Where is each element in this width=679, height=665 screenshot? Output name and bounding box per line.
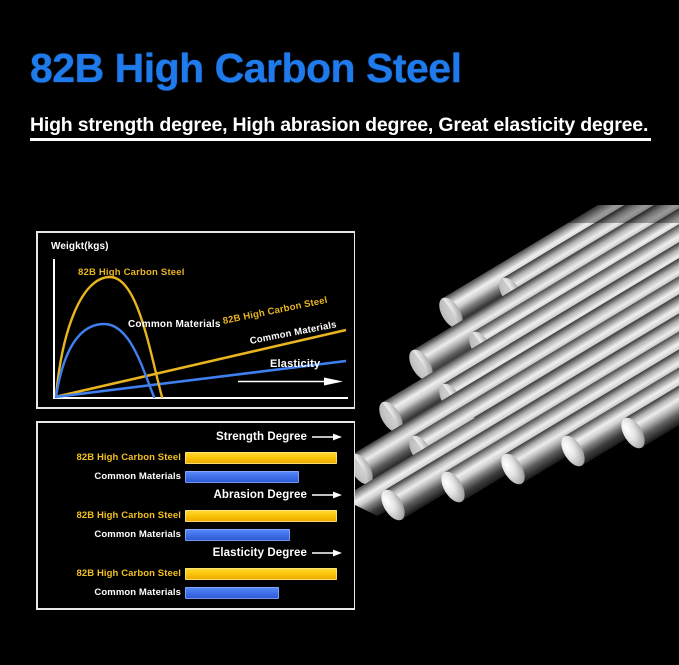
- bar-group-header: Elasticity Degree: [213, 547, 342, 559]
- bar-row-label: 82B High Carbon Steel: [38, 509, 181, 523]
- bar-common: [185, 471, 299, 483]
- bar-group-title: Strength Degree: [216, 431, 307, 443]
- page-subtitle: High strength degree, High abrasion degr…: [30, 113, 648, 137]
- bar-row-label: Common Materials: [38, 470, 181, 484]
- bar-row-label: Common Materials: [38, 586, 181, 600]
- arrow-right-icon: [312, 549, 342, 557]
- arrow-right-icon: [312, 491, 342, 499]
- bar-row-label: 82B High Carbon Steel: [38, 567, 181, 581]
- x-axis-arrow-icon: [238, 377, 343, 386]
- bar-82b: [185, 568, 337, 580]
- line-chart-panel: Weigkt(kgs) 82B High Carbon Steel Common…: [36, 231, 356, 409]
- arrow-right-icon: [312, 433, 342, 441]
- bar-group-title: Abrasion Degree: [213, 489, 307, 501]
- subtitle-underline: [30, 138, 651, 141]
- x-axis-label: Elasticity: [270, 358, 320, 370]
- bar-group-title: Elasticity Degree: [213, 547, 307, 559]
- steel-bars-photo: [355, 205, 679, 665]
- bar-common: [185, 529, 290, 541]
- line-chart-canvas: Weigkt(kgs) 82B High Carbon Steel Common…: [38, 233, 354, 407]
- bar-row: Common Materials: [38, 528, 354, 542]
- bar-row: 82B High Carbon Steel: [38, 509, 354, 523]
- bar-common: [185, 587, 279, 599]
- bar-row-label: 82B High Carbon Steel: [38, 451, 181, 465]
- product-banner: 82B High Carbon Steel High strength degr…: [0, 0, 679, 665]
- bar-chart-panel: Strength Degree82B High Carbon SteelComm…: [36, 421, 356, 610]
- bar-group-header: Strength Degree: [216, 431, 342, 443]
- bar-row: Common Materials: [38, 586, 354, 600]
- steel-bars-illustration: [355, 205, 679, 665]
- bar-row: 82B High Carbon Steel: [38, 567, 354, 581]
- bar-group-header: Abrasion Degree: [213, 489, 342, 501]
- bar-82b: [185, 452, 337, 464]
- curve-label-82b: 82B High Carbon Steel: [78, 267, 185, 278]
- curve-label-common: Common Materials: [128, 319, 221, 330]
- bar-row: 82B High Carbon Steel: [38, 451, 354, 465]
- bar-row-label: Common Materials: [38, 528, 181, 542]
- bar-row: Common Materials: [38, 470, 354, 484]
- page-title: 82B High Carbon Steel: [30, 44, 461, 92]
- bar-82b: [185, 510, 337, 522]
- bar-chart-canvas: Strength Degree82B High Carbon SteelComm…: [38, 423, 354, 608]
